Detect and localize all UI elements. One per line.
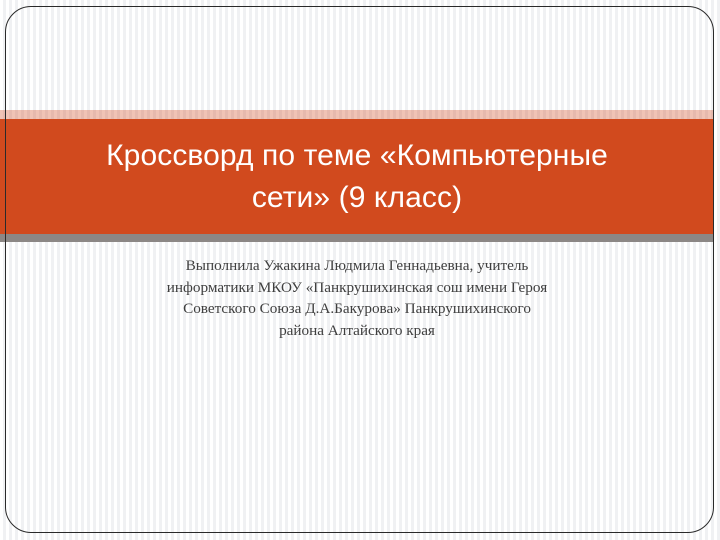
accent-strip-pink: [0, 110, 714, 119]
slide-title: Кроссворд по теме «Компьютерные сети» (9…: [0, 135, 714, 218]
title-band: Кроссворд по теме «Компьютерные сети» (9…: [0, 119, 714, 234]
title-band-group: Кроссворд по теме «Компьютерные сети» (9…: [0, 110, 714, 242]
slide-title-line-2: сети» (9 класс): [14, 177, 700, 218]
slide-subtitle: Выполнила Ужакина Людмила Геннадьевна, у…: [0, 255, 714, 341]
slide-subtitle-line-2: информатики МКОУ «Панкрушихинская сош им…: [0, 277, 714, 299]
title-slide: Кроссворд по теме «Компьютерные сети» (9…: [0, 0, 720, 540]
slide-subtitle-line-1: Выполнила Ужакина Людмила Геннадьевна, у…: [0, 255, 714, 277]
slide-title-line-1: Кроссворд по теме «Компьютерные: [14, 135, 700, 176]
accent-strip-gray: [0, 234, 714, 242]
slide-subtitle-line-4: района Алтайского края: [0, 320, 714, 342]
slide-subtitle-line-3: Советского Союза Д.А.Бакурова» Панкруших…: [0, 298, 714, 320]
